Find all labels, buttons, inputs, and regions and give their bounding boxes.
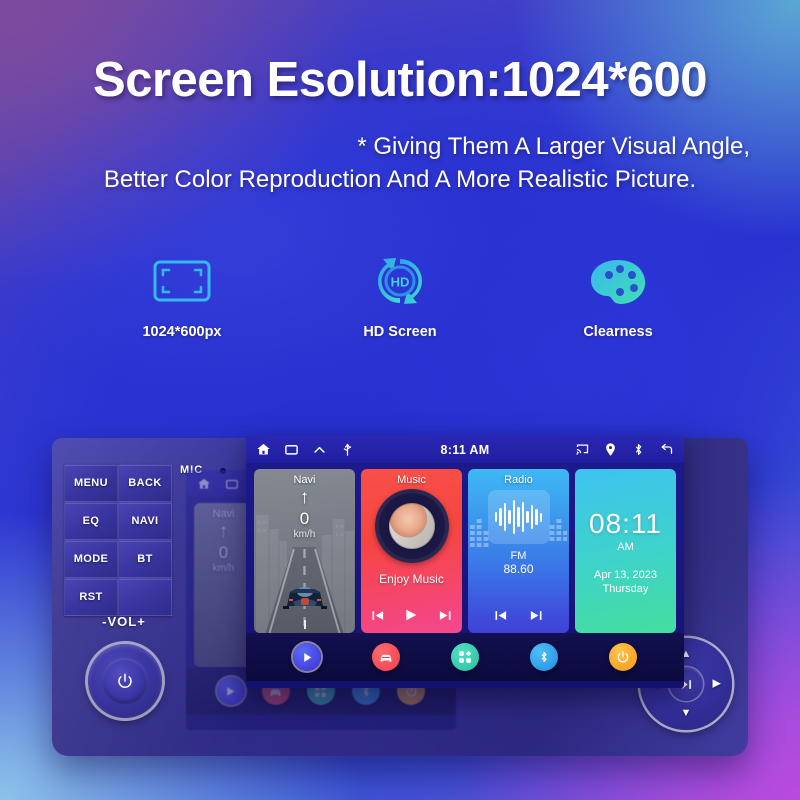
bluetooth-icon[interactable]	[631, 442, 646, 457]
radio-band-label: FM	[468, 550, 569, 562]
status-bar: 8:11 AM	[246, 436, 684, 463]
radio-frequency-value: 88.60	[468, 562, 569, 576]
feature-label: HD Screen	[335, 324, 465, 340]
tile-navi[interactable]: Navi ↑ 0 km/h	[254, 469, 355, 633]
clock-weekday: Thursday	[603, 583, 649, 595]
tile-music[interactable]: Music Enjoy Music	[361, 469, 462, 633]
reflected-status-left	[196, 476, 239, 491]
chevron-up-icon[interactable]	[312, 442, 327, 457]
page-title: Screen Esolution:1024*600	[0, 52, 800, 108]
color-palette-icon	[553, 250, 683, 312]
hw-button-mode[interactable]: MODE	[64, 540, 118, 578]
feature-list: 1024*600px HD HD Screen	[117, 250, 683, 340]
reflected-navi-tile: Navi ↑ 0 km/h	[194, 503, 253, 667]
navi-readout: ↑ 0 km/h	[254, 488, 355, 540]
status-bar-right-icons	[575, 442, 674, 457]
clock-date: Apr 13, 2023	[594, 569, 657, 581]
location-pin-icon[interactable]	[603, 442, 618, 457]
status-bar-clock: 8:11 AM	[441, 443, 490, 457]
navi-speed-unit: km/h	[294, 529, 316, 540]
tile-title-music: Music	[361, 469, 462, 486]
prev-station-icon[interactable]	[493, 608, 508, 626]
status-bar-left-icons	[256, 442, 355, 457]
back-arrow-icon[interactable]	[659, 442, 674, 457]
navi-speed-unit: km/h	[213, 563, 235, 574]
next-station-icon[interactable]	[529, 608, 544, 626]
headline-block: Screen Esolution:1024*600 * Giving Them …	[0, 52, 800, 196]
bottom-dock	[246, 633, 684, 681]
reflected-navi-body: ↑ 0 km/h	[194, 522, 253, 574]
head-unit-screen: 8:11 AM	[246, 436, 684, 688]
dpad-down-icon[interactable]: ▼	[681, 708, 692, 719]
navi-speed-value: 0	[219, 543, 228, 563]
feature-label: Clearness	[553, 324, 683, 340]
feature-label: 1024*600px	[117, 324, 247, 340]
subtitle-line-2: Better Color Reproduction And A More Rea…	[28, 163, 772, 196]
clock-time: 08:11	[589, 508, 662, 540]
navi-speed-value: 0	[300, 509, 309, 529]
navi-car-graphic	[277, 576, 333, 615]
volume-label: -VOL+	[76, 614, 172, 629]
recents-icon[interactable]	[284, 442, 299, 457]
home-icon[interactable]	[256, 442, 271, 457]
dpad-right-icon[interactable]: ▶	[713, 679, 721, 690]
usb-icon[interactable]	[340, 442, 355, 457]
power-icon	[102, 658, 148, 704]
feature-hd-screen: HD HD Screen	[335, 250, 465, 340]
home-icon	[196, 476, 211, 491]
car-icon[interactable]	[372, 643, 400, 671]
subtitle-block: * Giving Them A Larger Visual Angle, Bet…	[0, 130, 800, 196]
bluetooth-icon[interactable]	[530, 643, 558, 671]
feature-resolution: 1024*600px	[117, 250, 247, 340]
hw-button-navi[interactable]: NAVI	[118, 502, 172, 540]
hw-button-bt[interactable]: BT	[118, 540, 172, 578]
navi-direction-arrow-icon: ↑	[219, 522, 229, 541]
hd-refresh-icon: HD	[335, 250, 465, 312]
hw-button-eq[interactable]: EQ	[64, 502, 118, 540]
tile-title-radio: Radio	[468, 469, 569, 486]
album-art-vinyl	[375, 489, 449, 563]
tile-title: Navi	[194, 503, 253, 520]
music-caption: Enjoy Music	[361, 572, 462, 586]
hw-button-menu[interactable]: MENU	[64, 464, 118, 502]
feature-clearness: Clearness	[553, 250, 683, 340]
tile-radio[interactable]: Radio FM 88.60	[468, 469, 569, 633]
screen-frame-icon	[117, 250, 247, 312]
power-icon[interactable]	[609, 643, 637, 671]
prev-track-icon[interactable]	[370, 608, 385, 626]
radio-waveform-icon	[488, 490, 550, 544]
home-tile-grid: Navi ↑ 0 km/h Music	[246, 463, 684, 633]
subtitle-line-1: * Giving Them A Larger Visual Angle,	[28, 130, 772, 163]
play-icon[interactable]	[403, 607, 419, 626]
play-circle-icon	[217, 677, 245, 705]
music-transport-controls	[361, 607, 462, 633]
navi-direction-arrow-icon: ↑	[300, 488, 310, 507]
tile-title-navi: Navi	[254, 469, 355, 486]
hw-button-spare[interactable]	[118, 578, 172, 616]
hw-button-back[interactable]: BACK	[118, 464, 172, 502]
screen-cast-icon[interactable]	[575, 442, 590, 457]
play-circle-icon[interactable]	[293, 643, 321, 671]
apps-grid-icon[interactable]	[451, 643, 479, 671]
next-track-icon[interactable]	[438, 608, 453, 626]
tile-clock[interactable]: 08:11 AM Apr 13, 2023 Thursday	[575, 469, 676, 633]
navi-home-indicator	[304, 620, 306, 629]
clock-ampm: AM	[617, 541, 634, 553]
radio-tuning-controls	[468, 608, 569, 633]
volume-power-knob[interactable]	[88, 644, 162, 718]
hw-button-rst[interactable]: RST	[64, 578, 118, 616]
left-button-cluster: MENU BACK EQ NAVI MODE BT RST	[64, 464, 172, 616]
svg-text:HD: HD	[391, 275, 410, 290]
recents-icon	[224, 476, 239, 491]
